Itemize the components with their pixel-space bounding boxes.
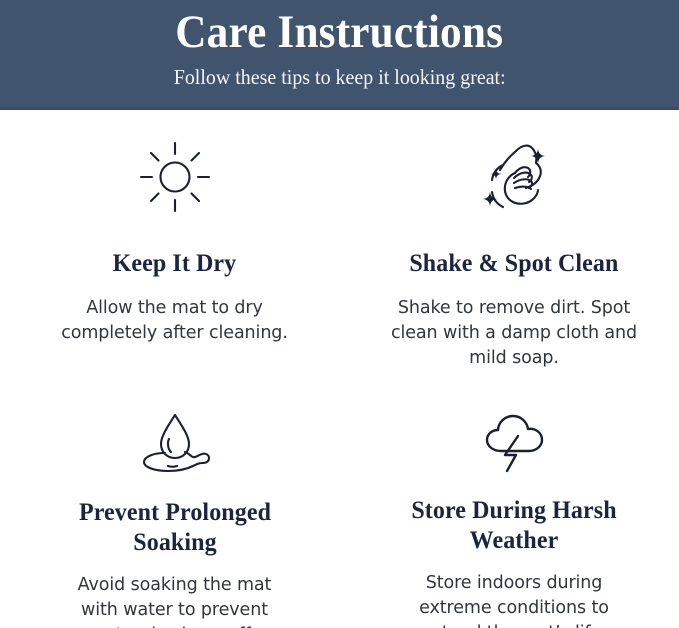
care-tip-body: Shake to remove dirt. Spot clean with a … xyxy=(389,296,639,371)
page-title: Care Instructions xyxy=(176,7,504,57)
page-header: Care Instructions Follow these tips to k… xyxy=(0,0,679,110)
page-subtitle: Follow these tips to keep it looking gre… xyxy=(174,64,506,90)
care-tip-body: Allow the mat to dry completely after cl… xyxy=(60,296,290,346)
care-tip-body: Avoid soaking the mat with water to prev… xyxy=(57,573,292,628)
care-tip-item: Prevent Prolonged Soaking Avoid soaking … xyxy=(0,396,349,628)
care-tip-title: Store During Harsh Weather xyxy=(394,496,634,556)
care-tip-item: Keep It Dry Allow the mat to dry complet… xyxy=(0,110,349,396)
care-tips-grid: Keep It Dry Allow the mat to dry complet… xyxy=(0,110,679,628)
water-droplet-puddle-icon xyxy=(135,411,215,475)
care-tip-title: Shake & Spot Clean xyxy=(409,249,618,279)
care-tip-item: Shake & Spot Clean Shake to remove dirt.… xyxy=(349,110,679,396)
care-tip-title: Keep It Dry xyxy=(113,249,237,279)
sun-icon xyxy=(137,139,213,215)
care-tip-title: Prevent Prolonged Soaking xyxy=(55,498,295,558)
washing-hands-sparkle-icon xyxy=(470,135,558,219)
care-tip-item: Store During Harsh Weather Store indoors… xyxy=(349,396,679,628)
care-instructions-page: Care Instructions Follow these tips to k… xyxy=(0,0,679,628)
storm-cloud-lightning-icon xyxy=(478,411,550,473)
care-tip-body: Store indoors during extreme conditions … xyxy=(394,571,634,628)
